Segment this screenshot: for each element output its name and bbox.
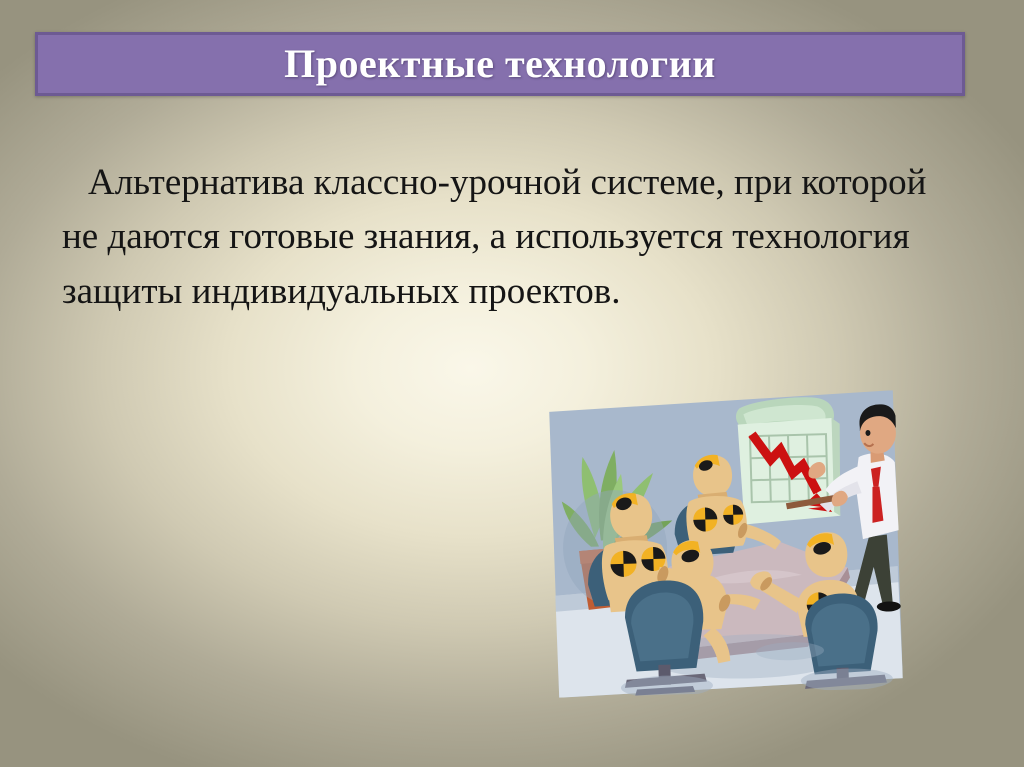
- slide-title-banner: Проектные технологии: [35, 32, 965, 96]
- presentation-slide: Проектные технологии Альтернатива классн…: [0, 0, 1024, 767]
- body-paragraph: Альтернатива классно-урочной системе, пр…: [62, 156, 942, 319]
- page-title: Проектные технологии: [284, 44, 716, 84]
- slide-body-block: Альтернатива классно-урочной системе, пр…: [62, 156, 942, 319]
- boardroom-illustration-svg: [547, 390, 903, 698]
- boardroom-illustration: [547, 390, 903, 698]
